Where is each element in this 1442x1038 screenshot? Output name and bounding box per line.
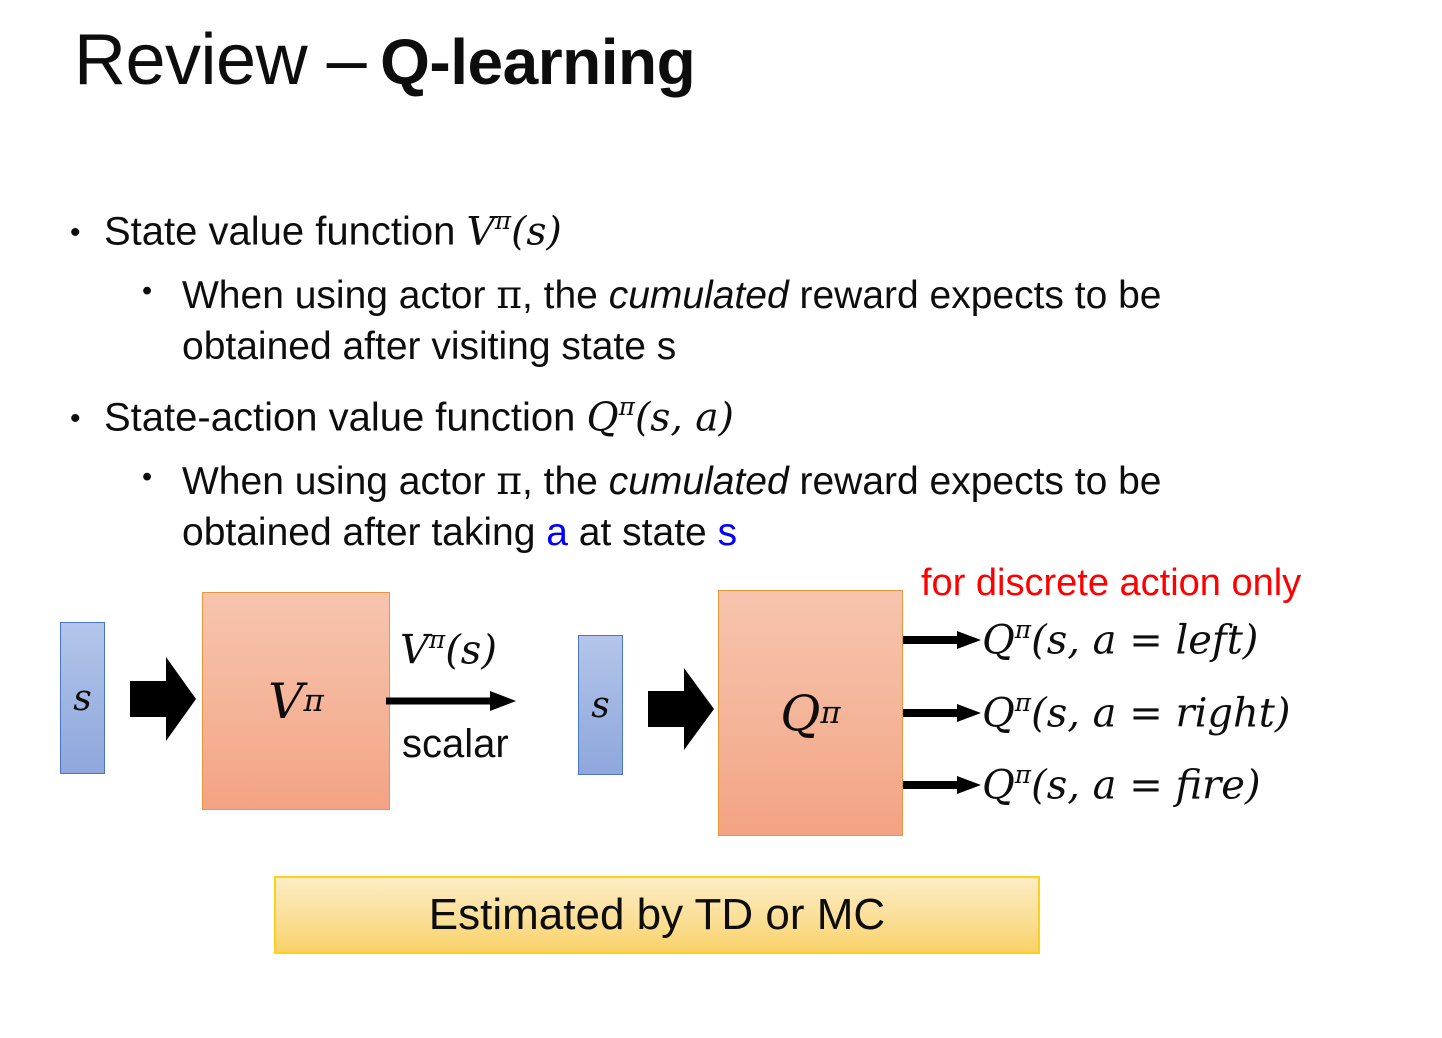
- desc-seg2: , the: [522, 460, 609, 503]
- math-q-superscript: π: [619, 392, 635, 421]
- math-v-superscript: π: [495, 206, 511, 235]
- title-part-review: Review –: [74, 20, 366, 100]
- desc-emphasis: cumulated: [609, 460, 789, 503]
- q-eq-superscript: π: [1015, 688, 1031, 717]
- sub-bullet-marker-icon: •: [142, 458, 152, 496]
- q-function-box: Qπ: [718, 590, 903, 836]
- q-output-arrow-icon-fire: [903, 775, 981, 795]
- v-output-label: Vπ(s): [400, 625, 497, 673]
- v-input-block-arrow-icon: [130, 657, 196, 741]
- pi-symbol: π: [496, 273, 522, 318]
- v-input-state-box: s: [60, 622, 105, 774]
- estimation-method-box: Estimated by TD or MC: [274, 876, 1040, 954]
- title-part-topic: Q-learning: [380, 26, 695, 98]
- v-function-box: Vπ: [202, 592, 390, 810]
- v-function-superscript: π: [304, 683, 324, 719]
- q-input-state-box: s: [578, 635, 623, 775]
- pi-symbol: π: [496, 459, 522, 504]
- v-output-arrow-icon: [386, 690, 516, 712]
- bullet-level1-state-value: •State value function Vπ(s): [70, 206, 562, 256]
- v-output-superscript: π: [429, 625, 445, 654]
- v-function-base: V: [268, 673, 303, 730]
- bullet-level2-state-action-desc: • When using actor π, the cumulated rewa…: [142, 456, 1272, 559]
- q-output-arrow-icon-right: [903, 703, 981, 723]
- math-v-args: (s): [511, 209, 562, 254]
- bullet-level2-state-value-desc: • When using actor π, the cumulated rewa…: [142, 270, 1272, 373]
- desc-seg4: at state: [568, 511, 718, 554]
- q-output-arrow-icon-left: [903, 630, 981, 650]
- q-eq-base: Q: [982, 690, 1015, 736]
- v-output-base: V: [400, 627, 429, 673]
- math-q-args: (s, a): [635, 395, 734, 440]
- q-eq-superscript: π: [1015, 615, 1031, 644]
- q-output-equation-right: Qπ(s, a = right): [982, 688, 1290, 736]
- slide-canvas: Review –Q-learning •State value function…: [0, 0, 1442, 1038]
- q-eq-args: (s, a = right): [1031, 690, 1290, 736]
- q-eq-superscript: π: [1015, 760, 1031, 789]
- page-title: Review –Q-learning: [74, 24, 695, 96]
- bullet-marker-icon: •: [70, 215, 104, 250]
- desc-emphasis: cumulated: [609, 274, 789, 317]
- estimation-method-label: Estimated by TD or MC: [429, 890, 885, 940]
- q-output-equation-fire: Qπ(s, a = fire): [982, 760, 1261, 808]
- desc-seg2: , the: [522, 274, 609, 317]
- v-output-args: (s): [445, 627, 497, 673]
- bullet-level1-state-action-value: •State-action value function Qπ(s, a): [70, 392, 734, 442]
- sub-bullet-body: When using actor π, the cumulated reward…: [182, 456, 1272, 559]
- desc-seg1: When using actor: [182, 460, 496, 503]
- sub-bullet-body: When using actor π, the cumulated reward…: [182, 270, 1272, 373]
- q-eq-args: (s, a = left): [1031, 617, 1258, 663]
- q-output-equation-left: Qπ(s, a = left): [982, 615, 1258, 663]
- q-eq-base: Q: [982, 617, 1015, 663]
- state-token: s: [718, 511, 738, 554]
- q-function-base: Q: [780, 685, 820, 742]
- q-eq-args: (s, a = fire): [1031, 762, 1260, 808]
- bullet-level1-text: State-action value function: [104, 395, 587, 439]
- sub-bullet-marker-icon: •: [142, 272, 152, 310]
- v-output-sublabel: scalar: [402, 722, 509, 767]
- q-input-block-arrow-icon: [648, 668, 714, 750]
- bullet-level1-text: State value function: [104, 209, 466, 253]
- desc-seg1: When using actor: [182, 274, 496, 317]
- action-token: a: [546, 511, 568, 554]
- q-eq-base: Q: [982, 762, 1015, 808]
- q-input-state-label: s: [591, 685, 609, 726]
- discrete-action-note: for discrete action only: [921, 562, 1301, 605]
- q-function-superscript: π: [820, 695, 840, 731]
- v-input-state-label: s: [73, 678, 91, 719]
- math-q-base: Q: [587, 395, 619, 440]
- math-v-base: V: [466, 209, 494, 254]
- bullet-marker-icon: •: [70, 401, 104, 436]
